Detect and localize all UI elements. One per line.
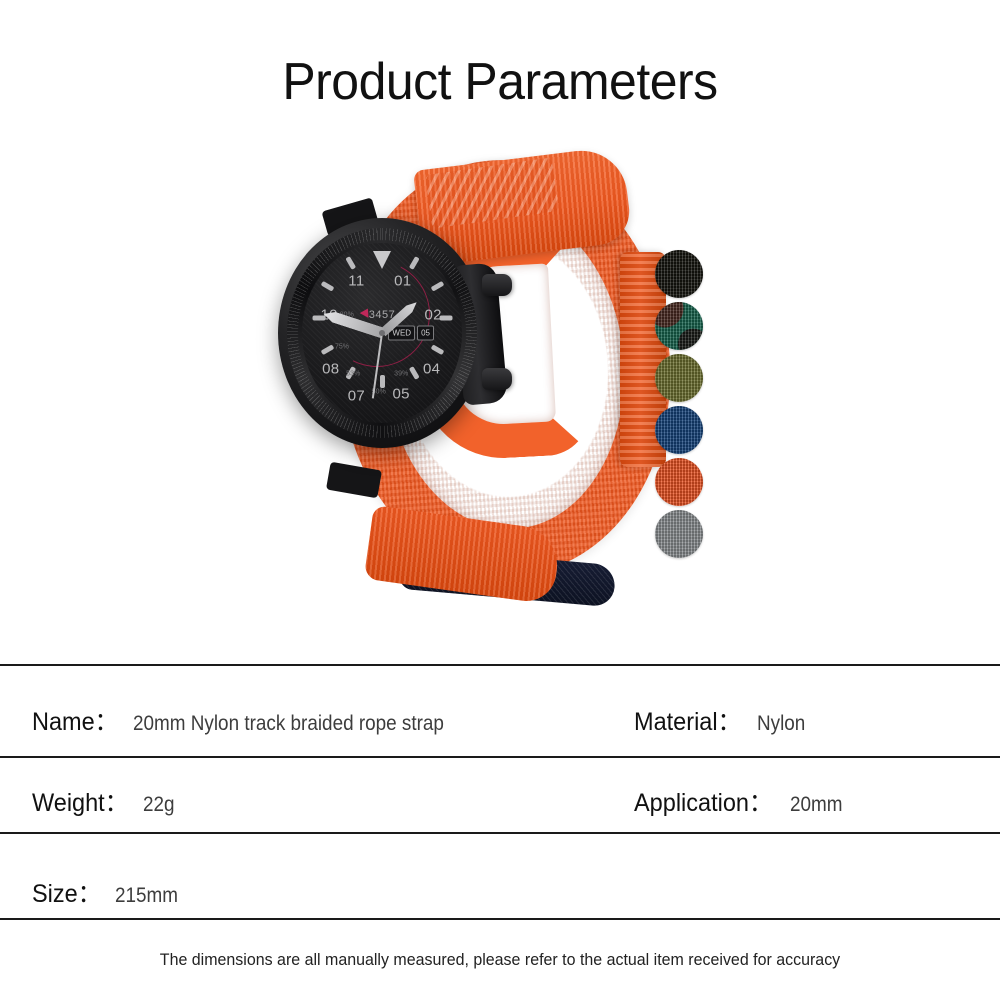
spec-rule-top [0, 664, 1000, 666]
spec-cell-size: Size： 215mm [32, 874, 185, 910]
spec-key-name: Name： [32, 702, 118, 738]
spec-cell-material: Material： Nylon [634, 702, 811, 738]
dial-hour-08: 08 [322, 361, 339, 378]
dial-subpercent-4: 39% [394, 371, 408, 378]
swatch-weave-texture [655, 510, 703, 558]
color-swatch-navy-blue[interactable] [655, 406, 703, 454]
swatch-weave-texture [655, 406, 703, 454]
spec-key-size: Size： [32, 874, 101, 910]
page-title: Product Parameters [20, 52, 980, 112]
watch-button-top [482, 274, 512, 296]
dial-tick [430, 281, 444, 292]
color-swatch-black[interactable] [655, 250, 703, 298]
dial-hour-07: 07 [348, 388, 365, 405]
spec-value-weight: 22g [143, 793, 175, 817]
spec-value-size: 215mm [115, 884, 178, 908]
dial-date-number: 05 [417, 326, 434, 341]
product-hero-image: 01 02 04 05 07 08 10 11 80% 75% 53% 39% … [0, 130, 1000, 630]
dial-hour-05: 05 [393, 386, 410, 403]
color-swatch-orange[interactable] [655, 458, 703, 506]
spec-rule-2 [0, 832, 1000, 834]
watch-button-bottom [482, 368, 512, 390]
color-swatch-army-green[interactable] [655, 354, 703, 402]
watch-dial: 01 02 04 05 07 08 10 11 80% 75% 53% 39% … [302, 243, 462, 423]
dial-tick [320, 344, 334, 355]
dial-tick [430, 344, 444, 355]
swatch-weave-texture [655, 354, 703, 402]
swatch-weave-texture [655, 302, 703, 350]
dial-hour-04: 04 [423, 361, 440, 378]
color-swatch-list [655, 250, 711, 562]
dial-hour-02: 02 [425, 307, 442, 324]
spec-rule-3 [0, 918, 1000, 920]
dial-date-window: WED 05 [388, 326, 434, 341]
dial-tick [380, 375, 385, 388]
spec-cell-name: Name： 20mm Nylon track braided rope stra… [32, 702, 478, 738]
dial-pivot [379, 330, 385, 336]
dial-tick [408, 366, 419, 380]
spec-key-weight: Weight： [32, 783, 128, 819]
watch-case: 01 02 04 05 07 08 10 11 80% 75% 53% 39% … [278, 218, 486, 448]
swatch-weave-texture [655, 458, 703, 506]
smartwatch: 01 02 04 05 07 08 10 11 80% 75% 53% 39% … [278, 218, 508, 478]
spec-key-material: Material： [634, 702, 741, 738]
dial-hour-01: 01 [394, 272, 411, 289]
spec-key-application: Application： [634, 783, 772, 819]
dial-hour-11: 11 [348, 272, 364, 289]
spec-value-name: 20mm Nylon track braided rope strap [133, 712, 444, 736]
spec-value-application: 20mm [790, 793, 843, 817]
color-swatch-green-camo[interactable] [655, 302, 703, 350]
measurement-disclaimer: The dimensions are all manually measured… [30, 950, 970, 970]
swatch-weave-texture [655, 250, 703, 298]
color-swatch-grey[interactable] [655, 510, 703, 558]
dial-tick [408, 256, 419, 270]
dial-subpercent-3: 53% [346, 371, 360, 378]
spec-cell-weight: Weight： 22g [32, 783, 178, 819]
spec-rule-1 [0, 756, 1000, 758]
product-parameters-page: Product Parameters [0, 0, 1000, 1000]
spec-value-material: Nylon [757, 712, 805, 736]
spec-cell-application: Application： 20mm [634, 783, 849, 819]
dial-subpercent-2: 75% [335, 344, 349, 351]
